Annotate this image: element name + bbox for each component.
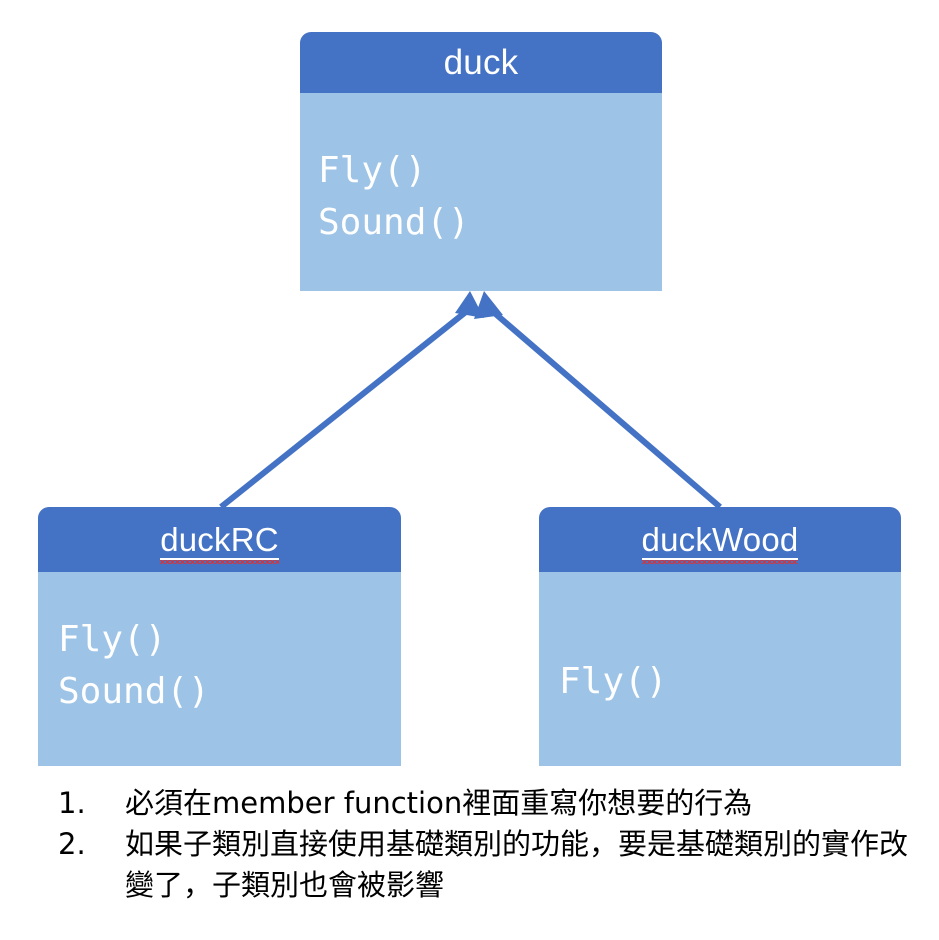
- spellcheck-squiggle-icon: [160, 560, 279, 564]
- class-title-duckrc: duckRC: [38, 507, 401, 572]
- class-name-underline-wrapper: duckWood: [642, 523, 799, 560]
- class-box-duckwood[interactable]: duckWood Fly(): [539, 507, 901, 766]
- spellcheck-squiggle-icon: [642, 560, 799, 564]
- diagram-canvas: duck Fly() Sound() duckRC Fly() Sound() …: [0, 0, 939, 940]
- class-methods-duckrc: Fly() Sound(): [38, 572, 401, 766]
- class-methods-duckwood: Fly(): [539, 572, 901, 766]
- class-name-text: duck: [444, 43, 519, 82]
- class-title-duckwood: duckWood: [539, 507, 901, 572]
- class-title-duck: duck: [300, 32, 662, 93]
- class-name-underline-wrapper: duckRC: [160, 523, 279, 560]
- list-item: 1. 必須在member function裡面重寫你想要的行為: [50, 783, 930, 824]
- arrow-duckrc-to-duck: [221, 291, 484, 507]
- notes-list: 1. 必須在member function裡面重寫你想要的行為 2. 如果子類別…: [50, 783, 930, 906]
- list-item-number: 1.: [50, 783, 125, 824]
- list-item: 2. 如果子類別直接使用基礎類別的功能，要是基礎類別的實作改變了，子類別也會被影…: [50, 824, 930, 906]
- class-name-text: duckWood: [642, 521, 799, 558]
- list-item-text: 如果子類別直接使用基礎類別的功能，要是基礎類別的實作改變了，子類別也會被影響: [125, 824, 930, 906]
- arrow-duckwood-to-duck: [474, 291, 720, 507]
- list-item-number: 2.: [50, 824, 125, 865]
- class-methods-duck: Fly() Sound(): [300, 93, 662, 291]
- class-name-text: duckRC: [160, 521, 279, 558]
- class-box-duckrc[interactable]: duckRC Fly() Sound(): [38, 507, 401, 766]
- class-box-duck[interactable]: duck Fly() Sound(): [300, 32, 662, 291]
- list-item-text: 必須在member function裡面重寫你想要的行為: [125, 783, 930, 824]
